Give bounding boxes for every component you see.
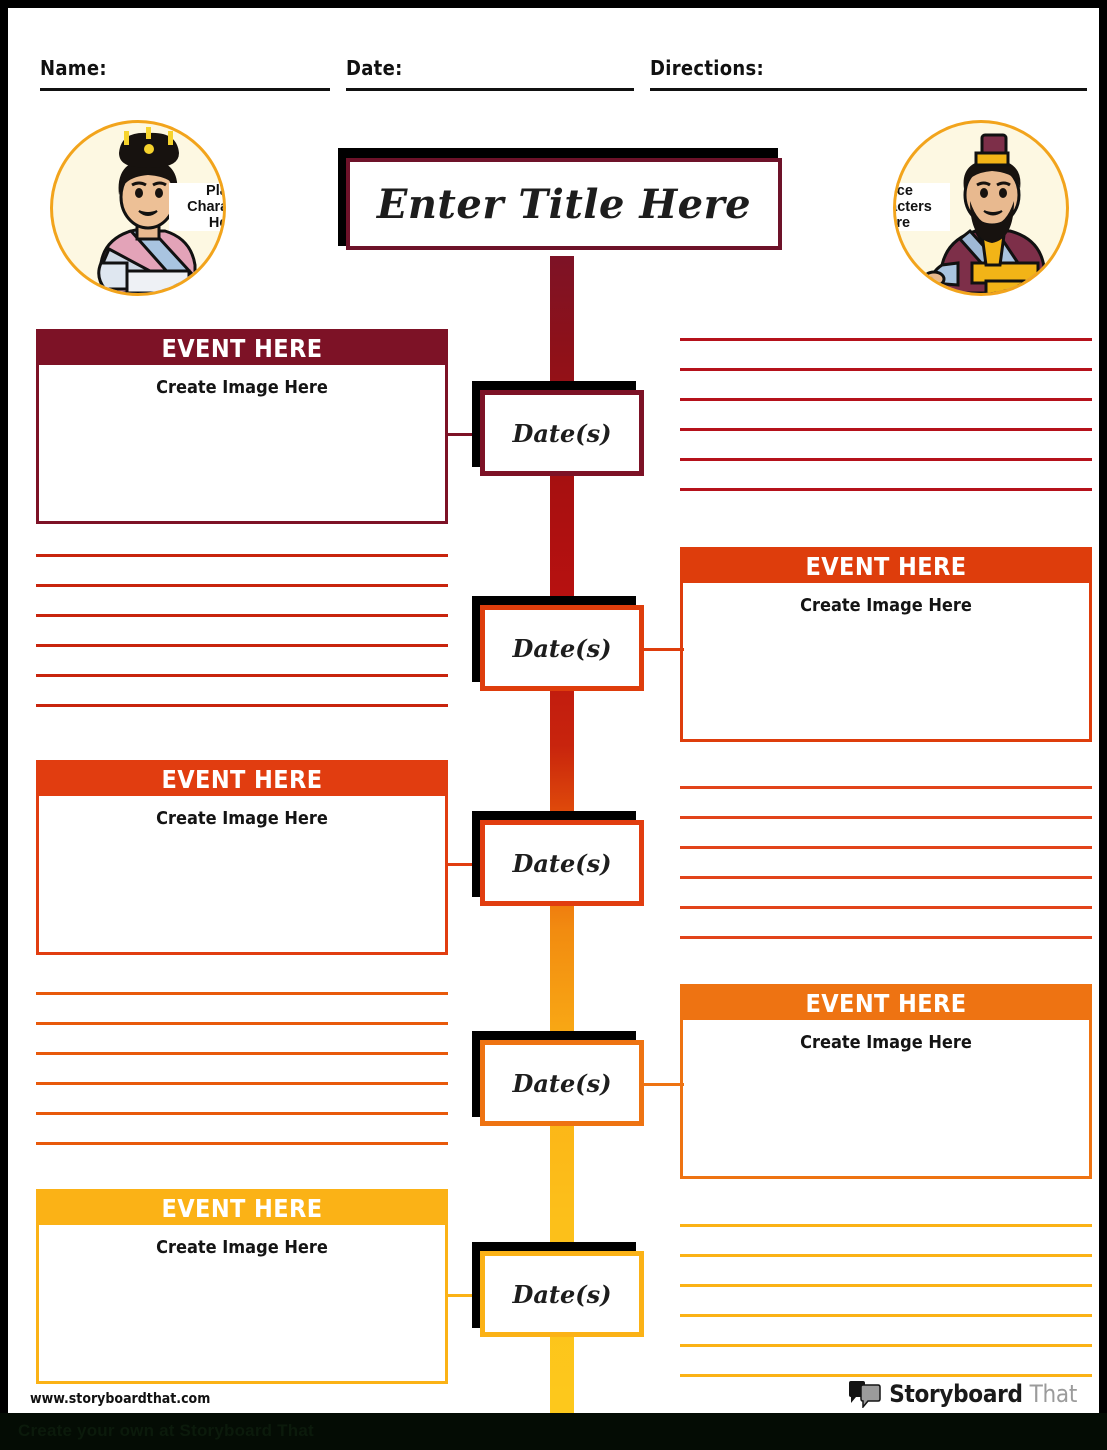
- event-image-caption: Create Image Here: [39, 377, 445, 398]
- milestone-connector: [644, 1083, 684, 1086]
- note-line: [36, 614, 448, 617]
- note-line: [680, 846, 1092, 849]
- note-line: [680, 1224, 1092, 1227]
- note-line: [680, 458, 1092, 461]
- note-line: [680, 368, 1092, 371]
- event-header: EVENT HERE: [39, 763, 445, 796]
- note-line: [36, 644, 448, 647]
- character-caption-left: PlaceCharactersHere: [169, 183, 226, 231]
- event-image-caption: Create Image Here: [683, 595, 1089, 616]
- header-field-name[interactable]: Name:: [40, 56, 330, 80]
- note-line: [36, 674, 448, 677]
- note-line: [680, 338, 1092, 341]
- event-header: EVENT HERE: [683, 550, 1089, 583]
- character-caption-right: PlaceCharactersHere: [893, 183, 950, 231]
- header-field-rule: [346, 88, 634, 91]
- event-box[interactable]: EVENT HERECreate Image Here: [36, 1189, 448, 1384]
- note-line: [680, 1374, 1092, 1377]
- event-image-caption: Create Image Here: [39, 1237, 445, 1258]
- header-field-label: Date:: [346, 56, 634, 80]
- header-field-rule: [650, 88, 1087, 91]
- title-box[interactable]: Enter Title Here: [346, 158, 782, 250]
- event-title: EVENT HERE: [161, 765, 322, 794]
- note-line: [680, 936, 1092, 939]
- note-line: [680, 488, 1092, 491]
- event-box[interactable]: EVENT HERECreate Image Here: [680, 984, 1092, 1179]
- event-header: EVENT HERE: [39, 1192, 445, 1225]
- speech-bubbles-icon: [848, 1380, 882, 1408]
- event-box[interactable]: EVENT HERECreate Image Here: [680, 547, 1092, 742]
- event-title: EVENT HERE: [161, 1194, 322, 1223]
- note-line: [36, 1082, 448, 1085]
- note-line: [680, 398, 1092, 401]
- date-label: Date(s): [513, 849, 612, 878]
- event-header: EVENT HERE: [683, 987, 1089, 1020]
- date-box[interactable]: Date(s): [480, 605, 644, 691]
- date-box[interactable]: Date(s): [480, 1251, 644, 1337]
- worksheet-page: Name:Date:Directions:: [8, 8, 1099, 1413]
- notes-lines[interactable]: [36, 992, 448, 1167]
- event-title: EVENT HERE: [161, 334, 322, 363]
- note-line: [680, 1344, 1092, 1347]
- note-line: [680, 428, 1092, 431]
- date-label: Date(s): [513, 1069, 612, 1098]
- event-header: EVENT HERE: [39, 332, 445, 365]
- header-field-label: Directions:: [650, 56, 1087, 80]
- note-line: [680, 1314, 1092, 1317]
- bottom-banner: Create your own at Storyboard That: [0, 1413, 1107, 1450]
- header-field-label: Name:: [40, 56, 330, 80]
- event-box[interactable]: EVENT HERECreate Image Here: [36, 329, 448, 524]
- notes-lines[interactable]: [680, 786, 1092, 961]
- note-line: [680, 1254, 1092, 1257]
- note-line: [36, 1142, 448, 1145]
- date-box[interactable]: Date(s): [480, 1040, 644, 1126]
- title-text: Enter Title Here: [377, 181, 751, 228]
- notes-lines[interactable]: [36, 554, 448, 729]
- character-placeholder-left[interactable]: PlaceCharactersHere: [50, 120, 226, 296]
- event-box[interactable]: EVENT HERECreate Image Here: [36, 760, 448, 955]
- event-image-caption: Create Image Here: [683, 1032, 1089, 1053]
- header-field-rule: [40, 88, 330, 91]
- header-field-date[interactable]: Date:: [346, 56, 634, 80]
- date-label: Date(s): [513, 419, 612, 448]
- storyboardthat-logo: Storyboard That: [848, 1380, 1077, 1408]
- note-line: [680, 906, 1092, 909]
- date-label: Date(s): [513, 634, 612, 663]
- character-placeholder-right[interactable]: PlaceCharactersHere: [893, 120, 1069, 296]
- note-line: [36, 554, 448, 557]
- note-line: [680, 786, 1092, 789]
- milestone-connector: [644, 648, 684, 651]
- site-url: www.storyboardthat.com: [30, 1391, 210, 1407]
- note-line: [680, 1284, 1092, 1287]
- note-line: [680, 876, 1092, 879]
- event-image-area[interactable]: Create Image Here: [39, 1225, 445, 1414]
- logo-word-that: That: [1030, 1380, 1077, 1408]
- note-line: [36, 1022, 448, 1025]
- event-image-area[interactable]: Create Image Here: [39, 796, 445, 985]
- date-box[interactable]: Date(s): [480, 390, 644, 476]
- note-line: [680, 816, 1092, 819]
- note-line: [36, 1052, 448, 1055]
- note-line: [36, 584, 448, 587]
- bottom-banner-text: Create your own at Storyboard That: [18, 1421, 314, 1441]
- note-line: [36, 704, 448, 707]
- event-image-area[interactable]: Create Image Here: [39, 365, 445, 554]
- event-title: EVENT HERE: [805, 989, 966, 1018]
- notes-lines[interactable]: [680, 1224, 1092, 1399]
- logo-word-storyboard: Storyboard: [889, 1380, 1022, 1408]
- notes-lines[interactable]: [680, 338, 1092, 513]
- event-image-area[interactable]: Create Image Here: [683, 583, 1089, 772]
- header-field-directions[interactable]: Directions:: [650, 56, 1087, 80]
- note-line: [36, 1112, 448, 1115]
- date-box[interactable]: Date(s): [480, 820, 644, 906]
- note-line: [36, 992, 448, 995]
- date-label: Date(s): [513, 1280, 612, 1309]
- event-title: EVENT HERE: [805, 552, 966, 581]
- event-image-caption: Create Image Here: [39, 808, 445, 829]
- event-image-area[interactable]: Create Image Here: [683, 1020, 1089, 1209]
